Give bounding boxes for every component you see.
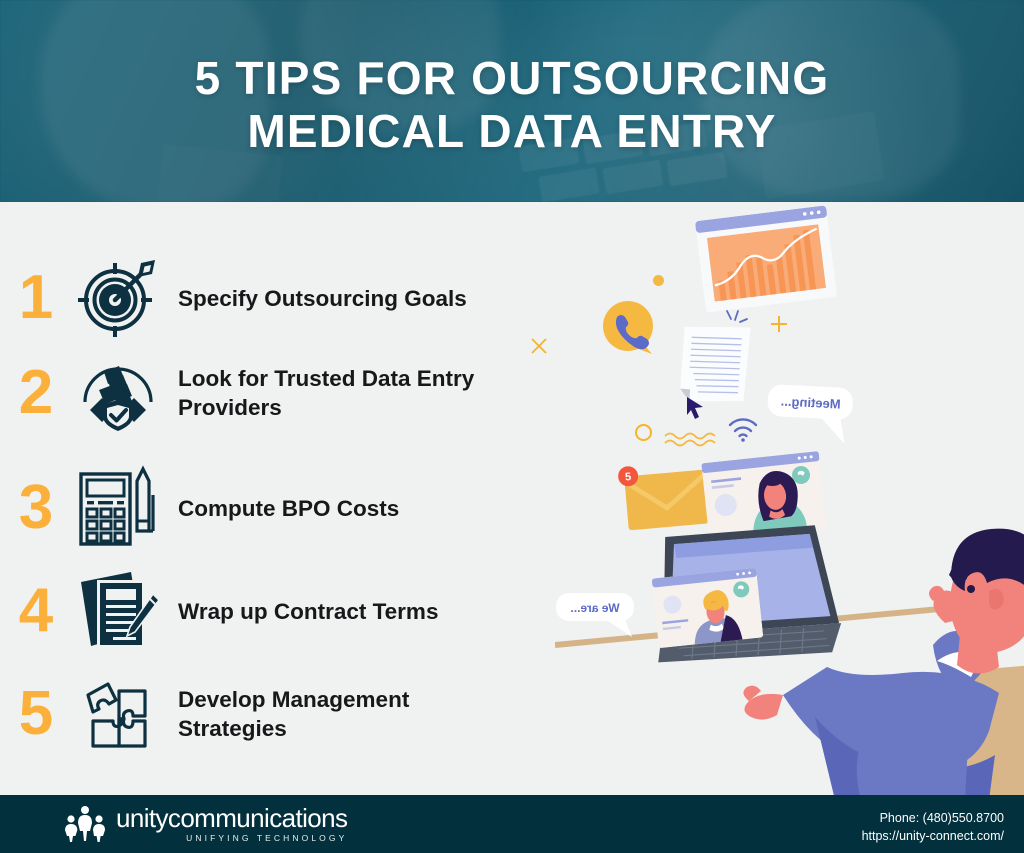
squiggle-doodle-icon xyxy=(664,431,720,449)
hero-illustration: Meeting... xyxy=(560,205,1024,800)
page-title-line1: 5 TIPS FOR OUTSOURCING xyxy=(195,52,830,104)
contract-documents-pen-icon xyxy=(72,568,164,654)
seated-man-figure xyxy=(665,505,1024,800)
tip-number: 5 xyxy=(0,683,72,745)
tip-number: 3 xyxy=(0,477,72,539)
spark-doodle-icon xyxy=(724,309,750,329)
tip-label: Specify Outsourcing Goals xyxy=(164,284,467,313)
decorative-plus-icon xyxy=(770,315,788,333)
infographic-page: 5 TIPS FOR OUTSOURCING MEDICAL DATA ENTR… xyxy=(0,0,1024,853)
target-arrow-icon xyxy=(72,255,164,341)
tip-label: Look for Trusted Data Entry Providers xyxy=(164,364,508,422)
logo-text-block: unitycommunications UNIFYING TECHNOLOGY xyxy=(116,805,347,843)
logo-name: unitycommunications xyxy=(116,805,347,831)
phone-call-bubble-icon xyxy=(600,300,662,362)
list-item: 4 Wrap up xyxy=(0,565,560,657)
footer-contact-block: Phone: (480)550.8700 https://unity-conne… xyxy=(862,809,1004,845)
meeting-bubble-text: Meeting... xyxy=(780,393,841,411)
wifi-icon xyxy=(728,417,758,443)
tip-number: 4 xyxy=(0,580,72,642)
logo-tagline: UNIFYING TECHNOLOGY xyxy=(116,833,347,843)
we-are-bubble-text: We are... xyxy=(570,601,619,615)
list-item: 3 xyxy=(0,462,560,554)
document-sheet-icon xyxy=(677,323,752,406)
tip-label: Compute BPO Costs xyxy=(164,494,399,523)
footer-website-link[interactable]: https://unity-connect.com/ xyxy=(862,827,1004,845)
decorative-cross-icon xyxy=(530,337,548,355)
company-logo: unitycommunications UNIFYING TECHNOLOGY xyxy=(64,803,347,845)
list-item: 1 Speci xyxy=(0,252,560,344)
header-banner: 5 TIPS FOR OUTSOURCING MEDICAL DATA ENTR… xyxy=(0,0,1024,202)
meeting-speech-bubble: Meeting... xyxy=(765,384,853,448)
analytics-browser-window xyxy=(695,205,837,312)
list-item: 5 Develop Management Strategies xyxy=(0,668,560,760)
tip-number: 2 xyxy=(0,362,72,424)
page-title: 5 TIPS FOR OUTSOURCING MEDICAL DATA ENTR… xyxy=(0,52,1024,158)
we-are-speech-bubble: We are... xyxy=(556,593,634,639)
tips-list: 1 Speci xyxy=(0,210,560,790)
footer-bar: unitycommunications UNIFYING TECHNOLOGY … xyxy=(0,795,1024,853)
cursor-pointer-icon xyxy=(685,395,705,419)
tip-label: Develop Management Strategies xyxy=(164,685,508,743)
handshake-shield-icon xyxy=(72,350,164,436)
puzzle-pieces-icon xyxy=(72,671,164,757)
list-item: 2 Loo xyxy=(0,347,560,439)
footer-phone: Phone: (480)550.8700 xyxy=(862,809,1004,827)
email-badge-count: 5 xyxy=(625,471,632,483)
page-title-line2: MEDICAL DATA ENTRY xyxy=(0,105,1024,158)
tip-label: Wrap up Contract Terms xyxy=(164,597,438,626)
calculator-pencil-icon xyxy=(72,465,164,551)
unity-star-logo-icon xyxy=(64,803,106,845)
tip-number: 1 xyxy=(0,267,72,329)
